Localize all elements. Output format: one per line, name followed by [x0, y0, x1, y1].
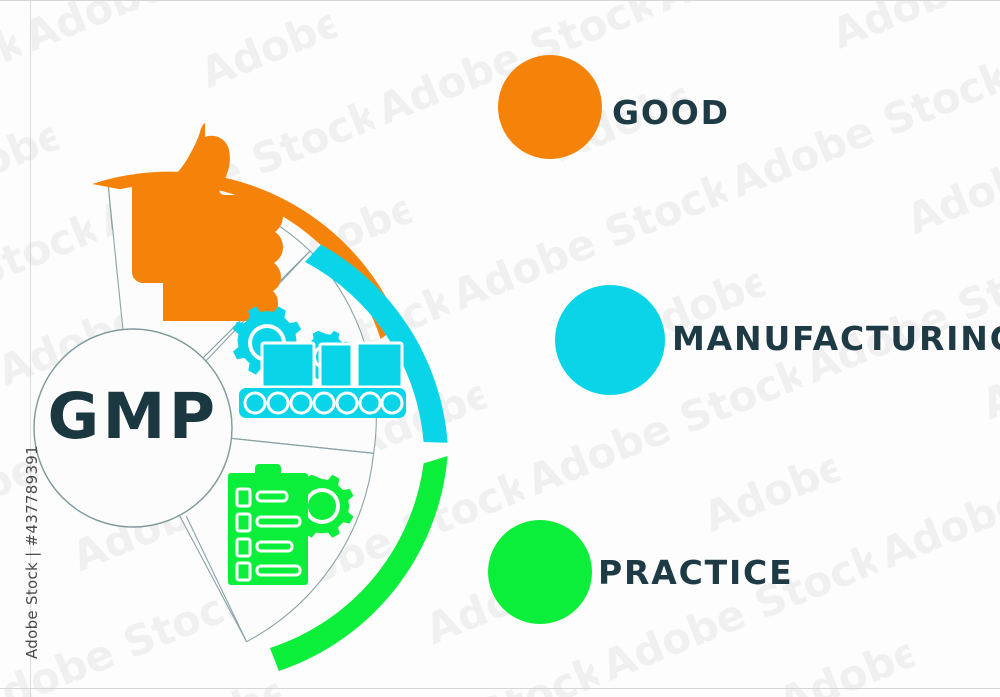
- watermark-id-text: Adobe Stock | #437789391: [23, 429, 41, 659]
- orange-dot-icon[interactable]: [498, 55, 602, 159]
- bottom-border-rule: [0, 688, 1000, 689]
- cyan-dot-icon[interactable]: [555, 285, 665, 395]
- center-acronym-label: GMP: [33, 385, 233, 448]
- clipboard-gear-icon: [228, 464, 353, 585]
- infographic-canvas: Adobe Stock Adobe Stock: [0, 0, 1000, 697]
- legend-label-good[interactable]: GOOD: [612, 96, 730, 129]
- legend-label-manufacturing[interactable]: MANUFACTURING: [672, 322, 1000, 355]
- legend-label-practice[interactable]: PRACTICE: [598, 556, 793, 589]
- top-border-rule: [0, 0, 1000, 1]
- green-dot-icon[interactable]: [488, 520, 592, 624]
